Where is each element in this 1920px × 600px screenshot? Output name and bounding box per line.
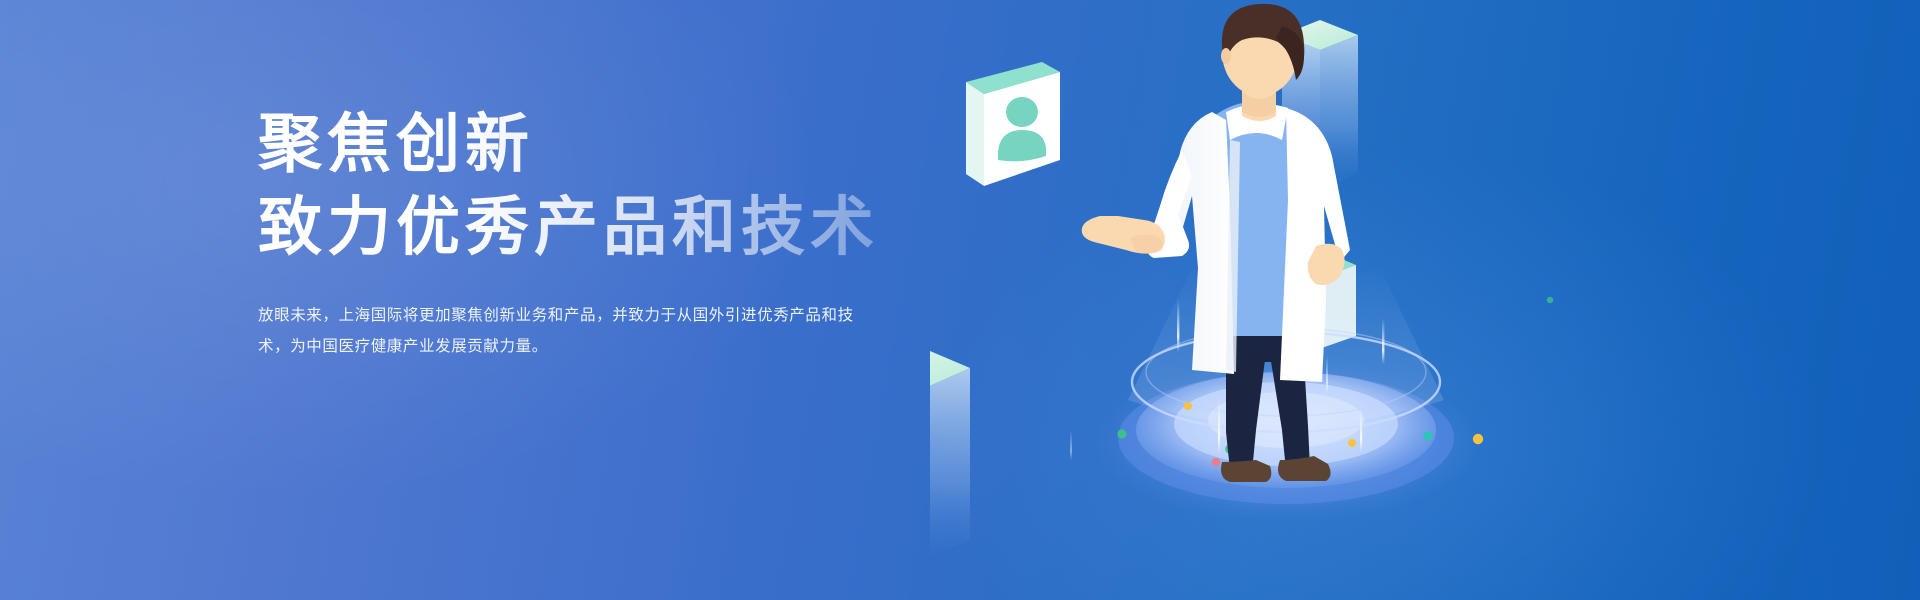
particle-yellow <box>1473 434 1483 444</box>
headline-line-1: 聚焦创新 <box>258 108 908 181</box>
particle-teal <box>1423 431 1432 440</box>
tall-block-lower-left <box>930 345 970 560</box>
banner-subtitle: 放眼未来，上海国际将更加聚焦创新业务和产品，并致力于从国外引进优秀产品和技术，为… <box>258 300 858 362</box>
user-profile-card <box>966 62 1060 186</box>
hero-banner: 聚焦创新 致力优秀产品和技术 放眼未来，上海国际将更加聚焦创新业务和产品，并致力… <box>0 0 1920 600</box>
particle-pink <box>1212 458 1220 466</box>
particle-yellow <box>1348 439 1356 447</box>
banner-copy-block: 聚焦创新 致力优秀产品和技术 放眼未来，上海国际将更加聚焦创新业务和产品，并致力… <box>258 108 908 362</box>
hero-illustration <box>930 0 1730 600</box>
particle-green <box>1547 297 1553 303</box>
headline-line-2: 致力优秀产品和技术 <box>258 191 908 264</box>
particle-yellow <box>1184 402 1192 410</box>
particle-green <box>1117 429 1126 438</box>
